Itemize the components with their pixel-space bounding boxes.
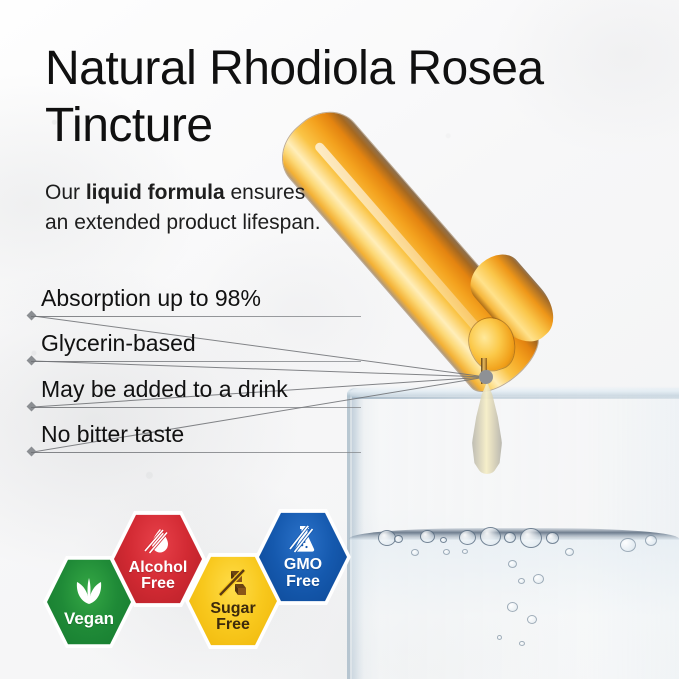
- leaf-icon: [72, 577, 106, 605]
- water-drop-slash-icon: [143, 526, 173, 556]
- sugar-cubes-slash-icon: [218, 569, 248, 597]
- product-infographic: Natural Rhodiola Rosea Tincture Our liqu…: [0, 0, 679, 679]
- badge-sugar-free-label: Sugar Free: [210, 601, 255, 634]
- badge-alcohol-free-line1: Alcohol: [129, 560, 188, 576]
- badge-vegan-line1: Vegan: [64, 609, 114, 628]
- badge-alcohol-free-line2: Free: [129, 576, 188, 592]
- badge-alcohol-free-label: Alcohol Free: [129, 560, 188, 593]
- badge-gmo-free-label: GMO Free: [284, 557, 322, 590]
- badge-sugar-free-line1: Sugar: [210, 601, 255, 617]
- badge-sugar-free-line2: Free: [210, 617, 255, 633]
- badge-gmo-free-line1: GMO: [284, 557, 322, 573]
- flask-slash-icon: [288, 524, 318, 554]
- badge-gmo-free-line2: Free: [284, 574, 322, 590]
- badge-vegan-label: Vegan: [64, 610, 114, 627]
- certification-badges: Vegan Alcohol Free: [0, 0, 679, 679]
